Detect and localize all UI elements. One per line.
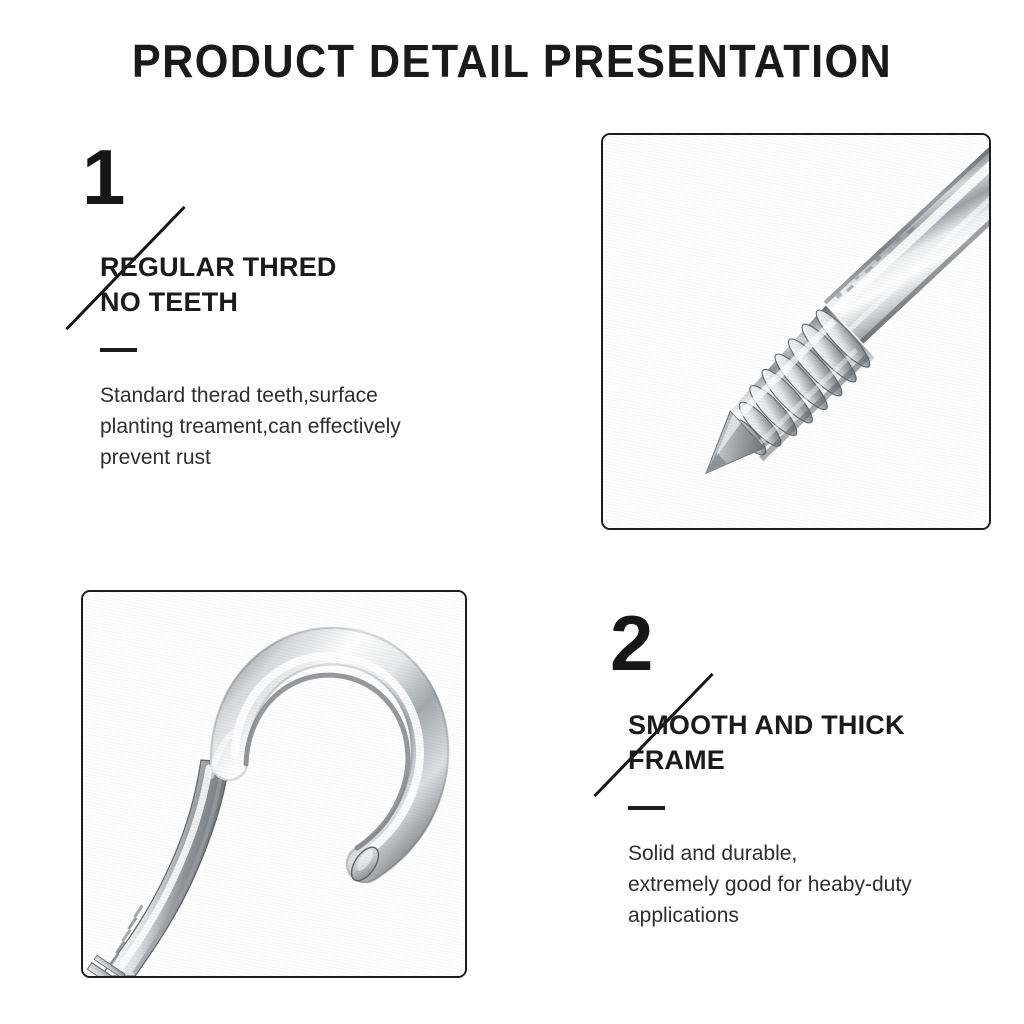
- heading-divider-2: [628, 806, 665, 810]
- heading-divider-1: [100, 348, 137, 352]
- feature-number-1: 1: [82, 138, 124, 216]
- image-frame-screw: [601, 133, 991, 530]
- feature-number-2: 2: [610, 604, 652, 682]
- hook-loop-photo: [83, 592, 465, 976]
- feature-body-1: Standard therad teeth,surface planting t…: [100, 380, 510, 473]
- feature-heading-1: REGULAR THRED NO TEETH: [100, 250, 337, 320]
- screw-thread-photo: [603, 135, 989, 528]
- feature-heading-2: SMOOTH AND THICK FRAME: [628, 708, 905, 778]
- image-frame-hook: [81, 590, 467, 978]
- page-title: PRODUCT DETAIL PRESENTATION: [31, 34, 994, 88]
- product-detail-page: PRODUCT DETAIL PRESENTATION 1 REGULAR TH…: [0, 0, 1024, 1024]
- feature-body-2: Solid and durable, extremely good for he…: [628, 838, 1024, 931]
